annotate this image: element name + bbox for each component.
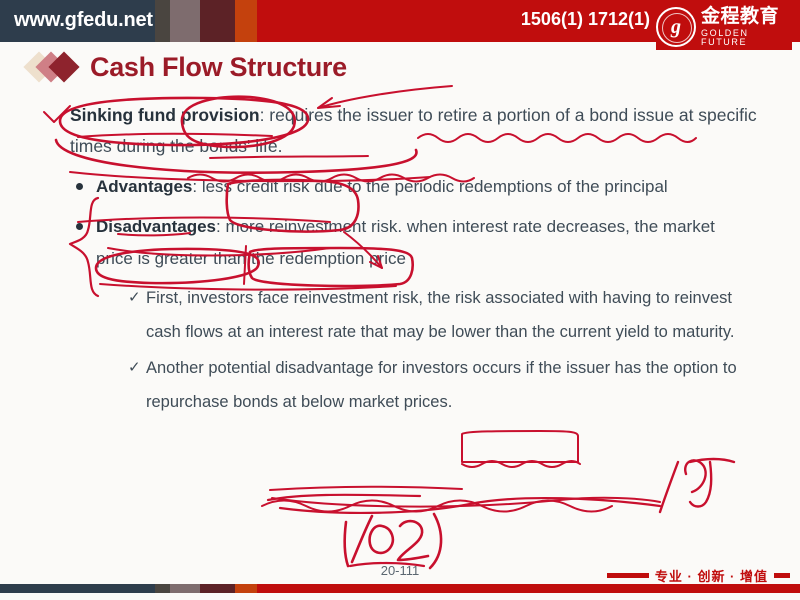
advantages-text: : less credit risk due to the periodic r… <box>192 177 667 196</box>
brand-logo: g 金程教育 GOLDEN FUTURE <box>656 4 792 50</box>
header-segment-orange <box>235 0 257 42</box>
ink-hand-bottom-slash <box>352 516 372 562</box>
title-row: Cash Flow Structure <box>26 50 347 84</box>
logo-name-cn: 金程教育 <box>701 7 792 26</box>
page-title: Cash Flow Structure <box>90 52 347 83</box>
ink-hand-bottom-two <box>398 521 428 560</box>
ink-sweep-bottom-a <box>268 495 420 500</box>
main-point: Sinking fund provision: requires the iss… <box>0 100 800 162</box>
course-code-label: 1506(1) 1712(1) <box>521 9 650 30</box>
ink-hand-bottom-bracket <box>430 514 441 568</box>
footer-segment-navy <box>0 584 155 593</box>
check-icon: ✓ <box>128 351 141 385</box>
header-segment-mauve <box>170 0 200 42</box>
diamond-bullet-icon <box>26 50 88 84</box>
site-url-label[interactable]: www.gfedu.net <box>14 9 153 32</box>
footer-segment-maroon <box>200 584 235 593</box>
disadvantages-term: Disadvantages <box>96 217 216 236</box>
logo-text-block: 金程教育 GOLDEN FUTURE <box>701 7 792 47</box>
slide-canvas: www.gfedu.net 1506(1) 1712(1) g 金程教育 GOL… <box>0 0 800 600</box>
advantages-point: Advantages: less credit risk due to the … <box>0 171 800 203</box>
sub-point-first: ✓ First, investors face reinvestment ris… <box>0 281 800 349</box>
ink-hand-bottom-zero <box>370 526 393 553</box>
ink-sweep-bottom-b <box>280 498 660 513</box>
ink-squiggle-investors <box>462 461 580 467</box>
header-segment-dark <box>155 0 170 42</box>
logo-name-en: GOLDEN FUTURE <box>701 29 792 47</box>
ink-sweep-final <box>272 498 660 507</box>
ink-hand-right-stroke1 <box>660 462 678 512</box>
ink-hand-right-stroke4 <box>690 462 711 507</box>
logo-monogram: g <box>671 17 681 37</box>
ink-hand-right-stroke3 <box>690 459 734 462</box>
logo-seal-icon: g <box>656 7 696 47</box>
tagline-bar-left <box>607 573 649 578</box>
ink-wave-final <box>262 501 612 512</box>
bullet-dot-icon <box>76 223 83 230</box>
footer-segment-red <box>257 584 800 593</box>
footer-segment-mauve <box>170 584 200 593</box>
sub-point-second: ✓ Another potential disadvantage for inv… <box>0 351 800 419</box>
ink-underline-repurchase <box>270 487 462 490</box>
main-point-term: Sinking fund provision <box>70 105 260 125</box>
bullet-dot-icon <box>76 183 83 190</box>
footer-segment-dark <box>155 584 170 593</box>
footer-segment-orange <box>235 584 257 593</box>
ink-hand-right-stroke2 <box>685 460 705 492</box>
slide-footer-bar <box>0 584 800 593</box>
slide-content: Sinking fund provision: requires the iss… <box>0 100 800 419</box>
tagline-row: 专业 · 创新 · 增值 <box>607 566 790 585</box>
ink-hand-bottom-one <box>345 522 348 566</box>
tagline-text: 专业 · 创新 · 增值 <box>655 566 768 585</box>
disadvantages-point: Disadvantages: more reinvestment risk. w… <box>0 211 800 275</box>
tagline-bar-right <box>774 573 790 578</box>
check-icon: ✓ <box>128 281 141 315</box>
ink-box-investors-occurs <box>462 431 578 462</box>
header-segment-maroon <box>200 0 235 42</box>
sub-point-first-text: First, investors face reinvestment risk,… <box>146 289 734 341</box>
sub-point-second-text: Another potential disadvantage for inves… <box>146 359 737 411</box>
advantages-term: Advantages <box>96 177 192 196</box>
